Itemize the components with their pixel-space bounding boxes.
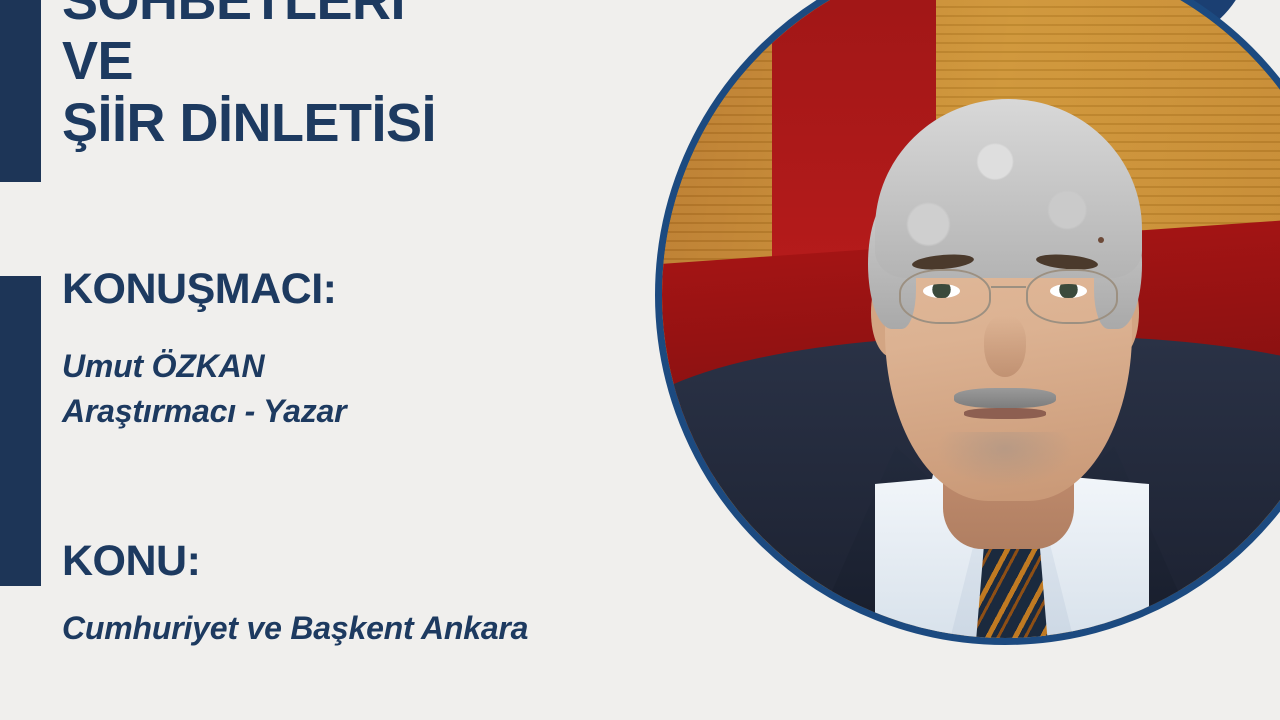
speaker-portrait-circle bbox=[655, 0, 1280, 645]
poster-title-line-3: ŞİİR DİNLETİSİ bbox=[62, 96, 436, 150]
glasses-bridge bbox=[991, 286, 1026, 288]
text-column: SOHBETLERİ VE ŞİİR DİNLETİSİ KONUŞMACI: … bbox=[62, 0, 682, 720]
portrait-nose bbox=[984, 316, 1025, 378]
accent-bar-top bbox=[0, 0, 41, 182]
speaker-name: Umut ÖZKAN bbox=[62, 350, 264, 382]
poster-title-line-2: VE bbox=[62, 34, 133, 88]
glasses-lens-left bbox=[899, 269, 991, 324]
topic-subject: Cumhuriyet ve Başkent Ankara bbox=[62, 612, 528, 644]
speaker-role: Araştırmacı - Yazar bbox=[62, 395, 346, 427]
portrait-mustache bbox=[954, 388, 1057, 409]
portrait-mouth bbox=[964, 408, 1046, 419]
topic-heading: KONU: bbox=[62, 540, 200, 583]
accent-bar-bottom bbox=[0, 276, 41, 586]
speaker-portrait-image bbox=[662, 0, 1280, 638]
poster-title-line-1: SOHBETLERİ bbox=[62, 0, 405, 28]
portrait-chin-shadow bbox=[936, 432, 1073, 487]
glasses-lens-right bbox=[1026, 269, 1118, 324]
event-poster: SOHBETLERİ VE ŞİİR DİNLETİSİ KONUŞMACI: … bbox=[0, 0, 1280, 720]
speaker-heading: KONUŞMACI: bbox=[62, 268, 336, 311]
portrait-mole bbox=[1098, 237, 1104, 243]
